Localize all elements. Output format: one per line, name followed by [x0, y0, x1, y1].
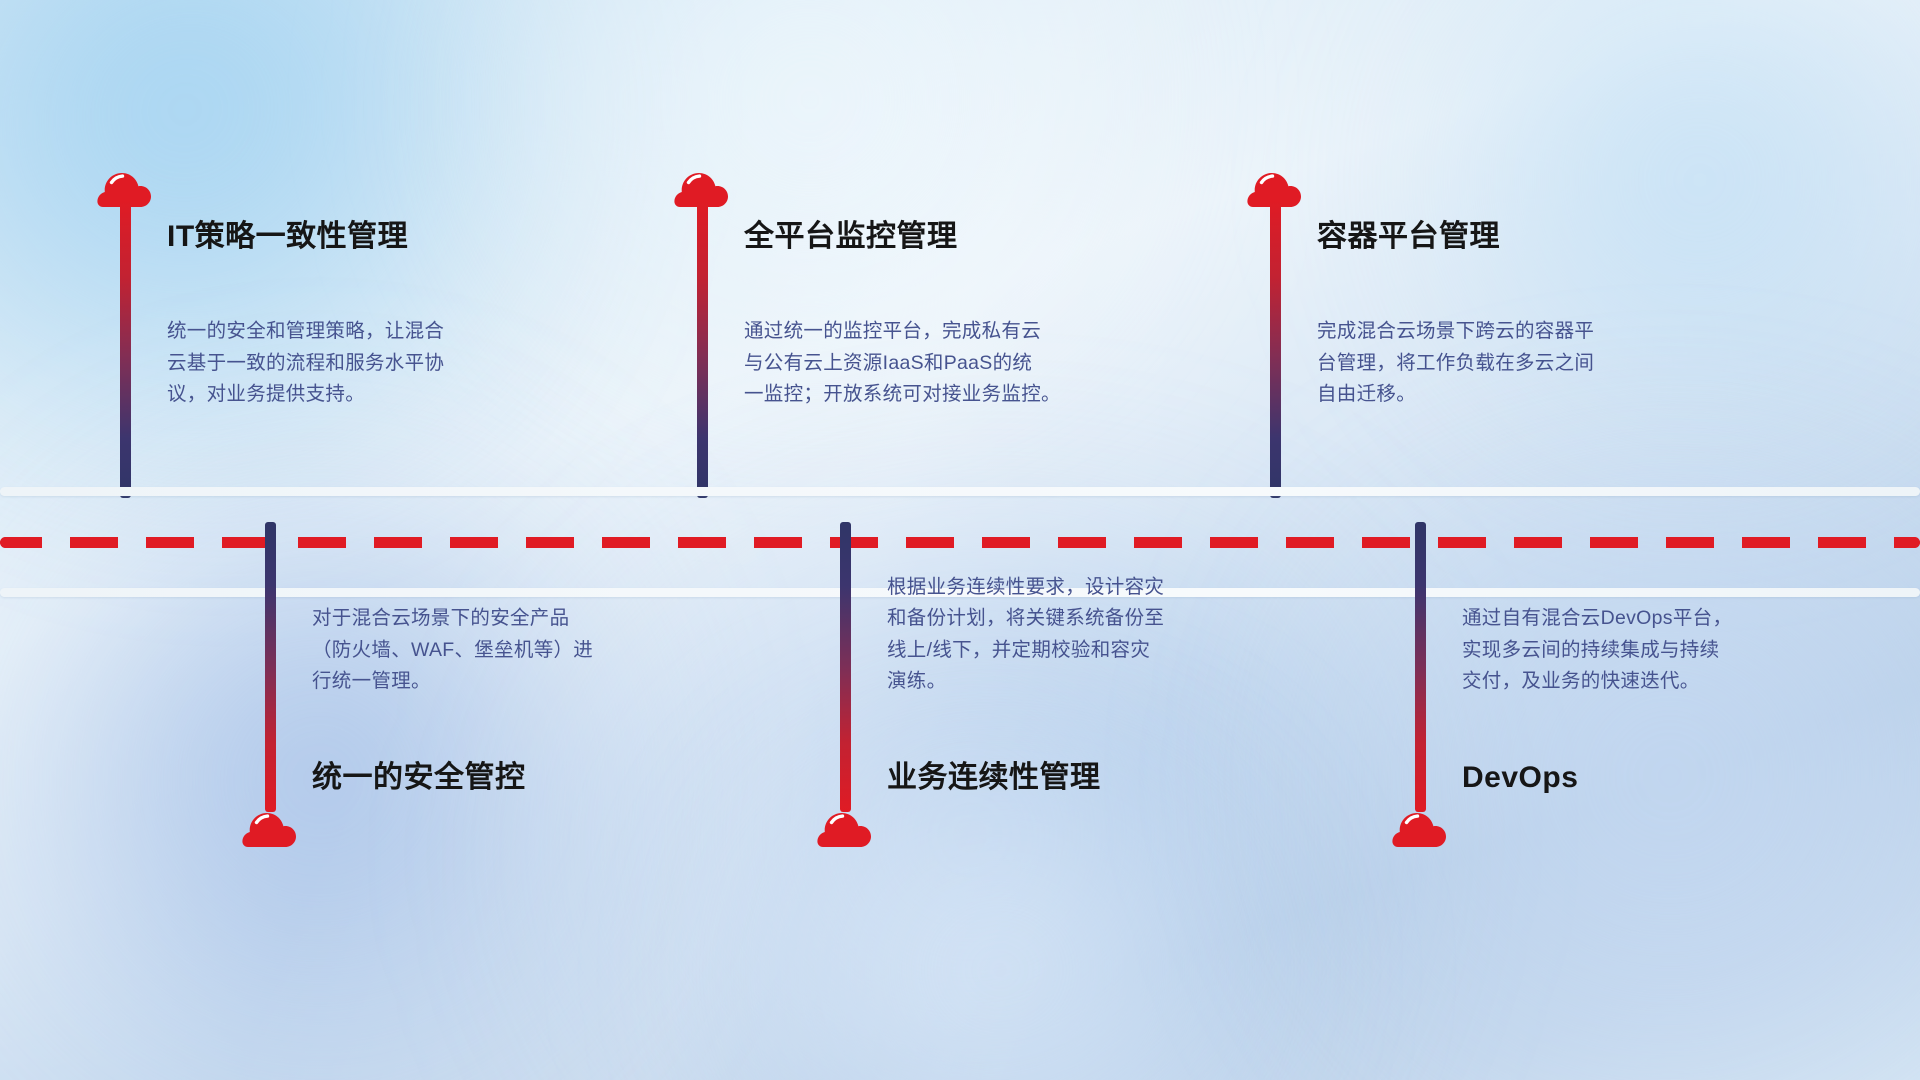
top-column-1-title: IT策略一致性管理	[167, 219, 408, 255]
connector-line	[1415, 522, 1426, 812]
top-column-1-body: 统一的安全和管理策略，让混合 云基于一致的流程和服务水平协 议，对业务提供支持。	[167, 316, 607, 411]
bottom-column-3-body: 通过自有混合云DevOps平台， 实现多云间的持续集成与持续 交付，及业务的快速…	[1462, 603, 1912, 698]
bottom-column-2-body: 根据业务连续性要求，设计容灾 和备份计划，将关键系统备份至 线上/线下，并定期校…	[887, 572, 1337, 698]
top-column-3-title: 容器平台管理	[1317, 219, 1500, 255]
connector-line	[265, 522, 276, 812]
top-column-2-body: 通过统一的监控平台，完成私有云 与公有云上资源IaaS和PaaS的统 一监控；开…	[744, 316, 1184, 411]
connector-line	[120, 200, 131, 498]
bottom-column-3-title: DevOps	[1462, 760, 1578, 796]
connector-line	[840, 522, 851, 812]
bottom-column-1-body: 对于混合云场景下的安全产品 （防火墙、WAF、堡垒机等）进 行统一管理。	[312, 603, 762, 698]
bottom-column-2-title: 业务连续性管理	[887, 760, 1101, 796]
connector-line	[697, 200, 708, 498]
connector-line	[1270, 200, 1281, 498]
divider-dashed-line	[0, 537, 1920, 548]
bottom-column-1-title: 统一的安全管控	[312, 760, 526, 796]
top-column-3-body: 完成混合云场景下跨云的容器平 台管理，将工作负载在多云之间 自由迁移。	[1317, 316, 1757, 411]
top-column-2-title: 全平台监控管理	[744, 219, 958, 255]
divider-rule-top	[0, 487, 1920, 496]
